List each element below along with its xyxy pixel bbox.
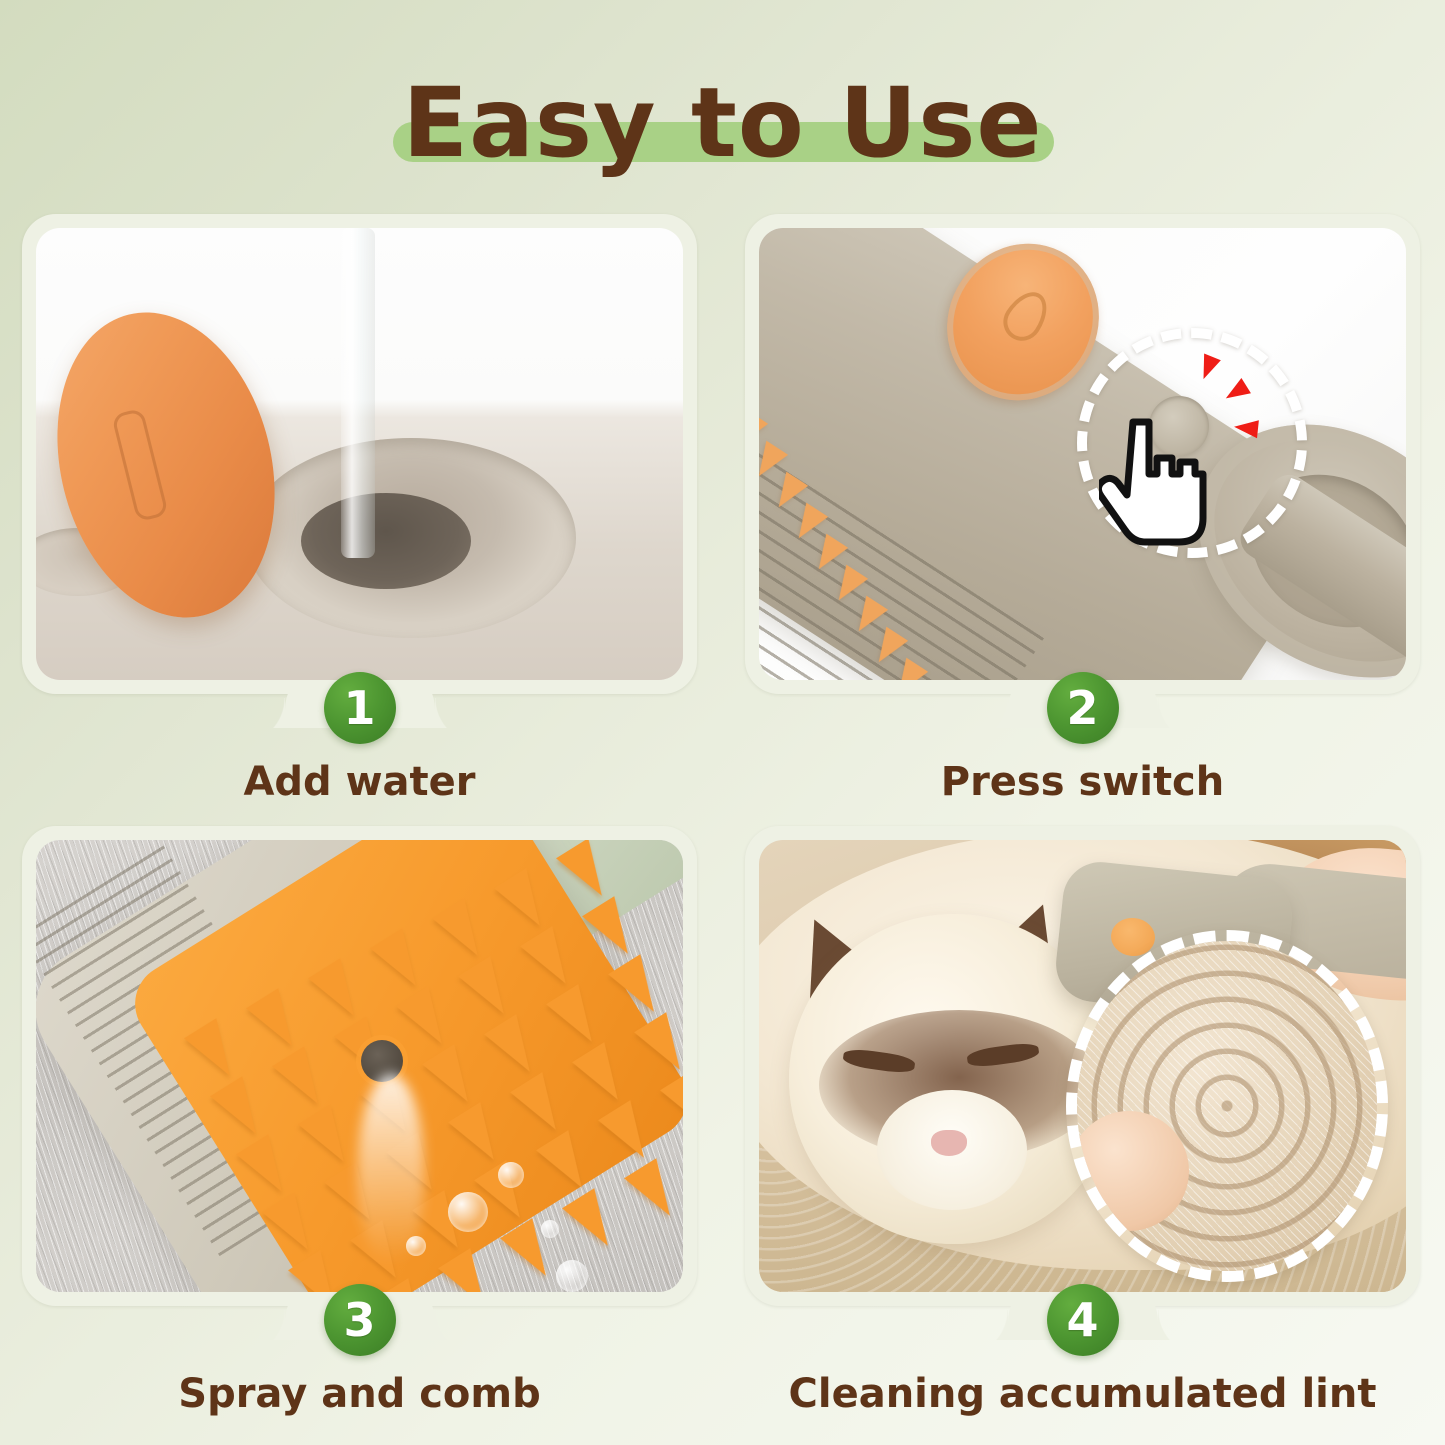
thumb: [1069, 1111, 1189, 1231]
tank-fill-hole: [301, 493, 471, 589]
brush-spike: [520, 926, 582, 994]
brush-silicone-spikes: [166, 840, 683, 1292]
brush-spike: [484, 1014, 546, 1082]
step-card-4-frame: [745, 826, 1420, 1306]
brush-spike: [298, 1104, 360, 1172]
brush-spike: [236, 1134, 298, 1202]
step-caption-1: Add water: [22, 759, 697, 805]
step-card-3-frame: [22, 826, 697, 1306]
brush-spike: [288, 1250, 350, 1292]
step-caption-2: Press switch: [745, 759, 1420, 805]
step-image-4: [759, 840, 1406, 1292]
hand-cursor-icon: [1099, 418, 1209, 546]
brush-spike: [432, 898, 494, 966]
steps-grid: 1 Add water: [0, 196, 1445, 1445]
bubble: [498, 1162, 524, 1188]
brush-spike: [272, 1046, 334, 1114]
step-image-1: [36, 228, 683, 680]
bubble: [556, 1260, 588, 1292]
brush-spike: [582, 896, 644, 964]
step-card-1-frame: [22, 214, 697, 694]
brush-spike: [572, 1042, 634, 1110]
brush-spike: [448, 1102, 510, 1170]
brush-spike: [556, 840, 618, 906]
brush-orange-teeth: [759, 408, 1029, 680]
brush-spike: [246, 988, 308, 1056]
brush-spike: [598, 1100, 660, 1168]
bubble: [406, 1236, 426, 1256]
brush-spike: [210, 1076, 272, 1144]
brush-spike: [438, 1248, 500, 1292]
step-image-3: [36, 840, 683, 1292]
step-badge-2-number: 2: [1066, 685, 1098, 731]
page-title: Easy to Use: [0, 58, 1445, 188]
brush-spike: [308, 958, 370, 1026]
step-caption-3: Spray and comb: [22, 1371, 697, 1417]
step-image-2: [759, 228, 1406, 680]
brush-spike: [608, 954, 670, 1022]
step-badge-3: 3: [324, 1284, 396, 1356]
brush-spike: [624, 1158, 683, 1226]
brush-spike: [262, 1192, 324, 1260]
step-badge-2: 2: [1047, 672, 1119, 744]
brush-spike: [458, 956, 520, 1024]
step-badge-1-number: 1: [343, 685, 375, 731]
brush-spike: [536, 1130, 598, 1198]
brush-spike: [510, 1072, 572, 1140]
step-caption-4: Cleaning accumulated lint: [745, 1371, 1420, 1417]
bubble: [541, 1220, 559, 1238]
step-card-3[interactable]: 3 Spray and comb: [22, 826, 697, 1426]
step-card-2[interactable]: 2 Press switch: [745, 214, 1420, 814]
bubble: [448, 1192, 488, 1232]
brush-spike: [494, 868, 556, 936]
step-card-4[interactable]: 4 Cleaning accumulated lint: [745, 826, 1420, 1426]
brush-spike: [184, 1018, 246, 1086]
step-badge-4: 4: [1047, 1284, 1119, 1356]
brush-spike: [562, 1188, 624, 1256]
step-badge-1: 1: [324, 672, 396, 744]
step-badge-4-number: 4: [1066, 1297, 1098, 1343]
brush-spike: [370, 928, 432, 996]
lint-closeup-inset: [1066, 930, 1388, 1282]
cat-nose: [931, 1130, 967, 1156]
brush-spike: [422, 1044, 484, 1112]
brush-spike: [634, 1012, 683, 1080]
brush-spike: [396, 986, 458, 1054]
alert-arrow-icon: [1233, 418, 1259, 438]
page-title-text: Easy to Use: [403, 68, 1043, 178]
brush-spike: [660, 1070, 683, 1138]
step-card-2-frame: [745, 214, 1420, 694]
water-stream: [341, 228, 375, 558]
step-card-1[interactable]: 1 Add water: [22, 214, 697, 814]
step-badge-3-number: 3: [343, 1297, 375, 1343]
brush-spike: [546, 984, 608, 1052]
